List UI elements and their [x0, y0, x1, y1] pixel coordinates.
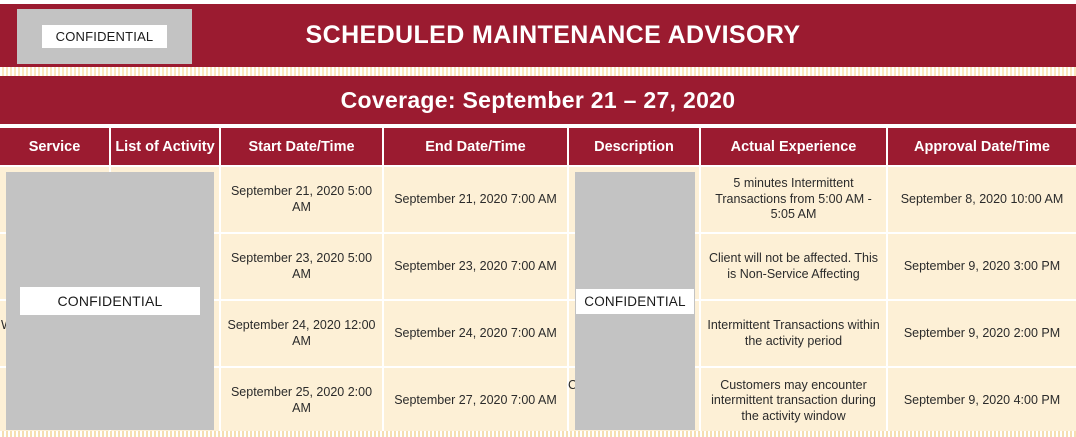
band-separator	[0, 67, 1076, 76]
coverage-period: Coverage: September 21 – 27, 2020	[341, 87, 736, 114]
column-header-end: End Date/Time	[383, 128, 568, 166]
cell-approval: September 9, 2020 4:00 PM	[887, 367, 1076, 434]
cell-end: September 27, 2020 7:00 AM	[383, 367, 568, 434]
cell-approval: September 8, 2020 10:00 AM	[887, 166, 1076, 233]
column-header-service: Service	[0, 128, 110, 166]
description-redaction-block: CONFIDENTIAL	[575, 172, 695, 430]
logo-redaction-block: CONFIDENTIAL	[17, 9, 192, 64]
cell-end: September 21, 2020 7:00 AM	[383, 166, 568, 233]
cell-end: September 24, 2020 7:00 AM	[383, 300, 568, 367]
cell-actual: Client will not be affected. This is Non…	[700, 233, 887, 300]
cell-start: September 24, 2020 12:00 AM	[220, 300, 383, 367]
table-header-row: Service List of Activity Start Date/Time…	[0, 128, 1076, 166]
cell-end: September 23, 2020 7:00 AM	[383, 233, 568, 300]
page-title: SCHEDULED MAINTENANCE ADVISORY	[306, 21, 801, 50]
cell-start: September 21, 2020 5:00 AM	[220, 166, 383, 233]
confidential-label-service-activity: CONFIDENTIAL	[20, 287, 200, 315]
column-header-approval: Approval Date/Time	[887, 128, 1076, 166]
column-header-description: Description	[568, 128, 700, 166]
confidential-label-description: CONFIDENTIAL	[576, 289, 694, 314]
confidential-label-logo: CONFIDENTIAL	[42, 25, 168, 48]
column-header-start: Start Date/Time	[220, 128, 383, 166]
cell-actual: 5 minutes Intermittent Transactions from…	[700, 166, 887, 233]
maintenance-advisory-document: SCHEDULED MAINTENANCE ADVISORY CONFIDENT…	[0, 0, 1076, 437]
cell-start: September 23, 2020 5:00 AM	[220, 233, 383, 300]
coverage-band: Coverage: September 21 – 27, 2020	[0, 76, 1076, 124]
cell-approval: September 9, 2020 2:00 PM	[887, 300, 1076, 367]
service-activity-redaction-block: CONFIDENTIAL	[6, 172, 214, 430]
column-header-activity: List of Activity	[110, 128, 220, 166]
cell-start: September 25, 2020 2:00 AM	[220, 367, 383, 434]
bottom-edge-strip	[0, 431, 1076, 437]
cell-actual: Customers may encounter intermittent tra…	[700, 367, 887, 434]
cell-approval: September 9, 2020 3:00 PM	[887, 233, 1076, 300]
cell-actual: Intermittent Transactions within the act…	[700, 300, 887, 367]
column-header-actual: Actual Experience	[700, 128, 887, 166]
